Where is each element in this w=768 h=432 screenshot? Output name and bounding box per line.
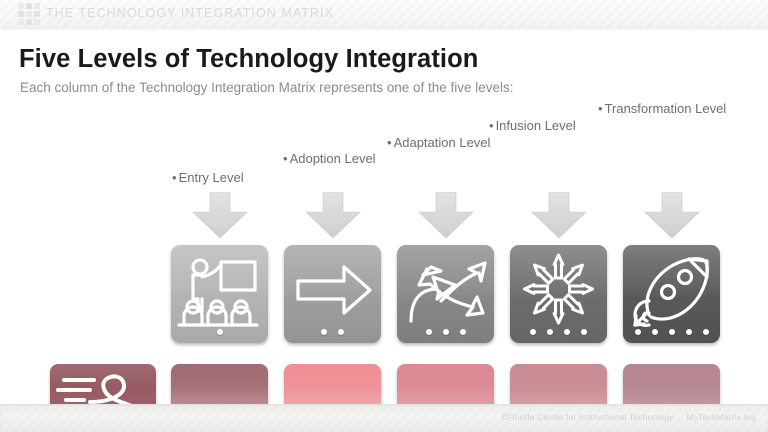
bullet-icon: • [598, 101, 603, 116]
level-dots [284, 328, 381, 336]
footer-copyright: ©Florida Center for Instructional Techno… [501, 412, 673, 422]
bullet-icon: • [387, 135, 392, 150]
down-arrow-icon [192, 192, 248, 239]
box-sheen [397, 364, 494, 389]
box-sheen [623, 364, 720, 389]
level-label-adaptation: •Adaptation Level [387, 135, 490, 150]
level-dots [171, 328, 268, 336]
level-dot [547, 329, 553, 335]
level-dots [623, 328, 720, 336]
level-icon-box-infusion[interactable] [510, 245, 607, 343]
level-dot [652, 329, 658, 335]
level-dot [426, 329, 432, 335]
level-label-text: Transformation Level [605, 101, 727, 116]
down-arrow-icon [644, 192, 700, 239]
footer-bar: ©Florida Center for Instructional Techno… [0, 404, 768, 432]
slide-canvas: THE TECHNOLOGY INTEGRATION MATRIX Five L… [0, 0, 768, 432]
level-dots [510, 328, 607, 336]
level-label-infusion: •Infusion Level [489, 118, 576, 133]
level-dot [669, 329, 675, 335]
header-bar: THE TECHNOLOGY INTEGRATION MATRIX [0, 0, 768, 28]
level-label-entry: •Entry Level [172, 170, 244, 185]
level-icon-box-adaptation[interactable] [397, 245, 494, 343]
down-arrow-icon [531, 192, 587, 239]
level-dot [321, 329, 327, 335]
page-title: Five Levels of Technology Integration [19, 45, 478, 74]
level-icon-box-adoption[interactable] [284, 245, 381, 343]
level-dot [564, 329, 570, 335]
down-arrow-icon [418, 192, 474, 239]
level-dot [686, 329, 692, 335]
box-sheen [510, 364, 607, 389]
footer-site: MyTechMatrix.org [687, 412, 756, 422]
level-label-transformation: •Transformation Level [598, 101, 726, 116]
level-icon-box-transformation[interactable] [623, 245, 720, 343]
level-dot [217, 329, 223, 335]
level-label-text: Adoption Level [290, 151, 376, 166]
level-dot [460, 329, 466, 335]
level-dot [443, 329, 449, 335]
box-sheen [284, 364, 381, 389]
level-label-text: Entry Level [179, 170, 244, 185]
down-arrow-icon [305, 192, 361, 239]
level-dot [338, 329, 344, 335]
bullet-icon: • [172, 170, 177, 185]
level-dot [581, 329, 587, 335]
header-title: THE TECHNOLOGY INTEGRATION MATRIX [46, 6, 334, 20]
bullet-icon: • [489, 118, 494, 133]
page-subtitle: Each column of the Technology Integratio… [20, 80, 514, 95]
level-dot [703, 329, 709, 335]
level-label-text: Adaptation Level [394, 135, 491, 150]
box-sheen [171, 364, 268, 389]
grid-logo-icon [18, 3, 40, 25]
level-dots [397, 328, 494, 336]
level-dot [530, 329, 536, 335]
bullet-icon: • [283, 151, 288, 166]
level-icon-box-entry[interactable] [171, 245, 268, 343]
footer-credit: ©Florida Center for Instructional Techno… [501, 412, 756, 422]
level-label-adoption: •Adoption Level [283, 151, 376, 166]
level-dot [635, 329, 641, 335]
level-label-text: Infusion Level [496, 118, 576, 133]
